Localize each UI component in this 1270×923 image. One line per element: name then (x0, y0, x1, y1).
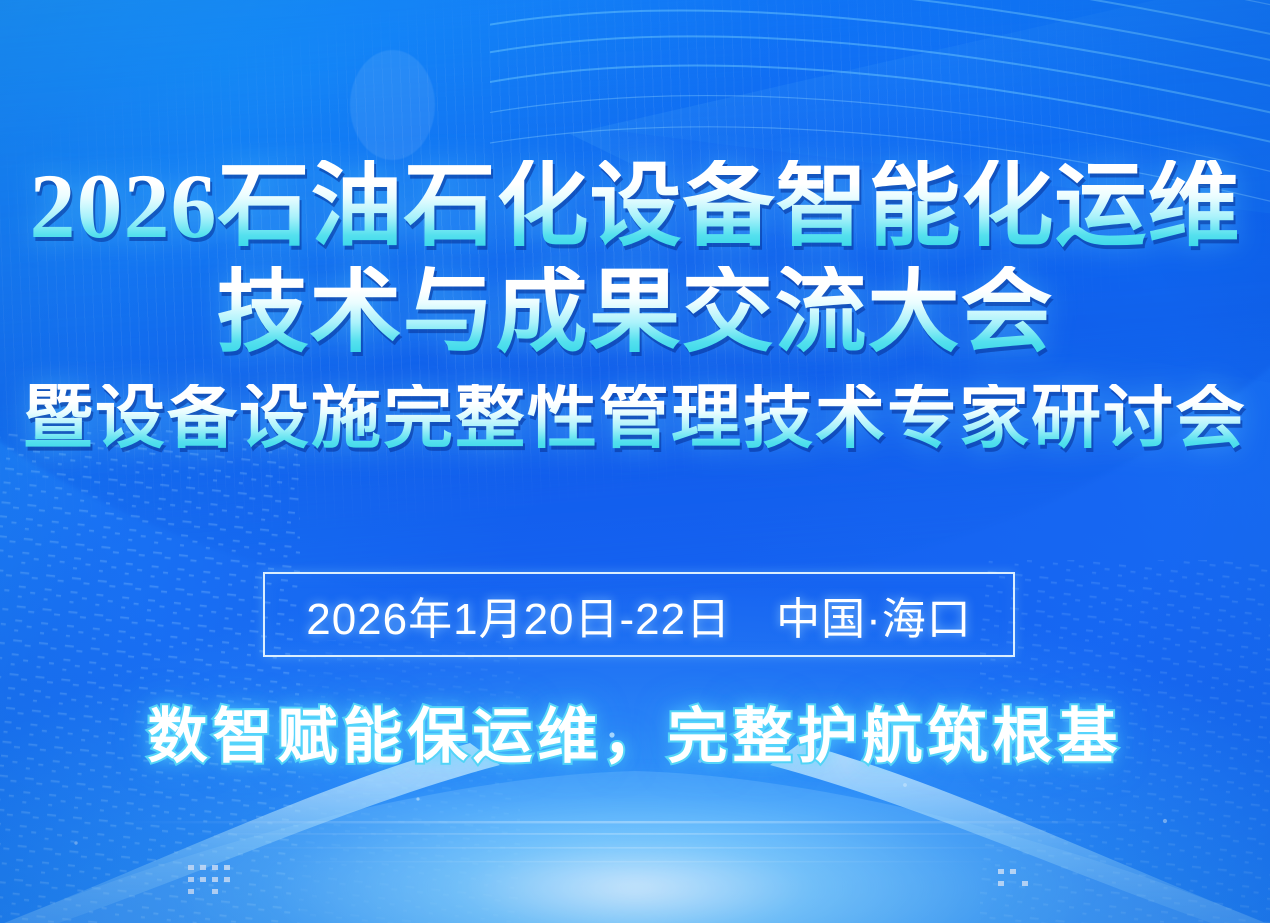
date-location-text: 2026年1月20日-22日 中国·海口 (306, 583, 972, 647)
title-line-1: 2026石油石化设备智能化运维 (0, 160, 1270, 252)
title-line-2: 技术与成果交流大会 (0, 266, 1270, 358)
title-line-3: 暨设备设施完整性管理技术专家研讨会 (0, 384, 1270, 454)
poster-content: 2026石油石化设备智能化运维 技术与成果交流大会 暨设备设施完整性管理技术专家… (0, 0, 1270, 923)
date-location-box: 2026年1月20日-22日 中国·海口 (263, 572, 1015, 657)
conference-poster: 2026石油石化设备智能化运维 技术与成果交流大会 暨设备设施完整性管理技术专家… (0, 0, 1270, 923)
title-block: 2026石油石化设备智能化运维 技术与成果交流大会 暨设备设施完整性管理技术专家… (0, 160, 1270, 454)
slogan-text: 数智赋能保运维，完整护航筑根基 (0, 688, 1270, 775)
